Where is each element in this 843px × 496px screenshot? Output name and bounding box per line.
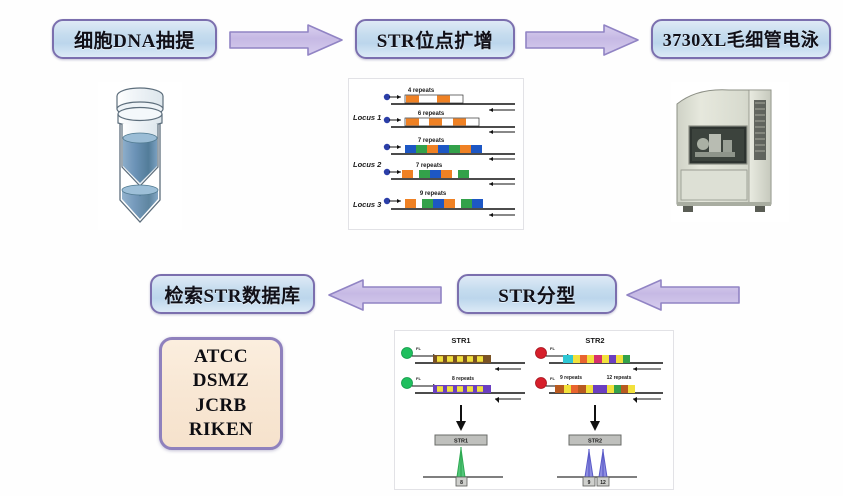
marker-label-str2: STR2 <box>585 336 604 345</box>
step-label-str-amplification: STR位点扩增 <box>377 26 493 53</box>
repeat-label-2b: 7 repeats <box>416 163 443 169</box>
str-locus-figure: Locus 1 4 repeats 6 repeats <box>348 78 524 230</box>
panel-badge-str2: STR2 <box>588 439 602 445</box>
str-typing-figure: STR1 FL FL 8 repeats <box>394 330 674 490</box>
step-label-capillary-electrophoresis: 3730XL毛细管电泳 <box>663 26 820 52</box>
spin-column-tube-image <box>98 82 182 230</box>
step-label-search-str-database: 检索STR数据库 <box>165 281 301 308</box>
repeat-label-str2-1: 9 repeats <box>560 375 582 381</box>
step-label-str-typing: STR分型 <box>498 281 575 308</box>
arrow-left-1 <box>625 278 741 312</box>
repeat-label-1a: 4 repeats <box>408 88 435 94</box>
database-item: RIKEN <box>189 418 253 442</box>
allele-label-str2-1: 9 <box>588 480 591 486</box>
locus-label-2: Locus 2 <box>353 160 382 169</box>
repeat-label-1b: 6 repeats <box>418 111 445 117</box>
locus-label-3: Locus 3 <box>353 200 382 209</box>
capillary-sequencer-instrument-image <box>671 82 789 222</box>
step-box-str-amplification[interactable]: STR位点扩增 <box>355 19 515 59</box>
step-box-search-str-database[interactable]: 检索STR数据库 <box>150 274 315 314</box>
workflow-diagram: 细胞DNA抽提 STR位点扩增 3730XL毛细管电泳 检索STR数据库 STR… <box>0 0 843 496</box>
marker-label-str1: STR1 <box>451 336 470 345</box>
arrow-left-2 <box>327 278 443 312</box>
allele-label-str1-1: 8 <box>460 480 463 486</box>
repeat-label-str1: 8 repeats <box>452 376 474 382</box>
step-label-dna-extraction: 细胞DNA抽提 <box>74 26 195 53</box>
svg-text:FL: FL <box>550 346 555 351</box>
step-box-str-typing[interactable]: STR分型 <box>457 274 617 314</box>
database-item: DSMZ <box>193 369 250 393</box>
svg-text:FL: FL <box>550 376 555 381</box>
repeat-label-str2-2: 12 repeats <box>607 375 632 381</box>
repeat-label-2a: 7 repeats <box>418 138 445 144</box>
repeat-label-3b: 9 repeats <box>420 191 447 197</box>
allele-label-str2-2: 12 <box>600 480 606 486</box>
arrow-right-2 <box>524 23 640 57</box>
panel-badge-str1: STR1 <box>454 439 468 445</box>
arrow-right-1 <box>228 23 344 57</box>
svg-text:FL: FL <box>416 346 421 351</box>
step-box-dna-extraction[interactable]: 细胞DNA抽提 <box>52 19 217 59</box>
database-item: JCRB <box>195 394 246 418</box>
svg-text:FL: FL <box>416 376 421 381</box>
database-list-box[interactable]: ATCC DSMZ JCRB RIKEN <box>159 337 283 450</box>
step-box-capillary-electrophoresis[interactable]: 3730XL毛细管电泳 <box>651 19 831 59</box>
database-item: ATCC <box>194 345 248 369</box>
locus-label-1: Locus 1 <box>353 113 381 122</box>
